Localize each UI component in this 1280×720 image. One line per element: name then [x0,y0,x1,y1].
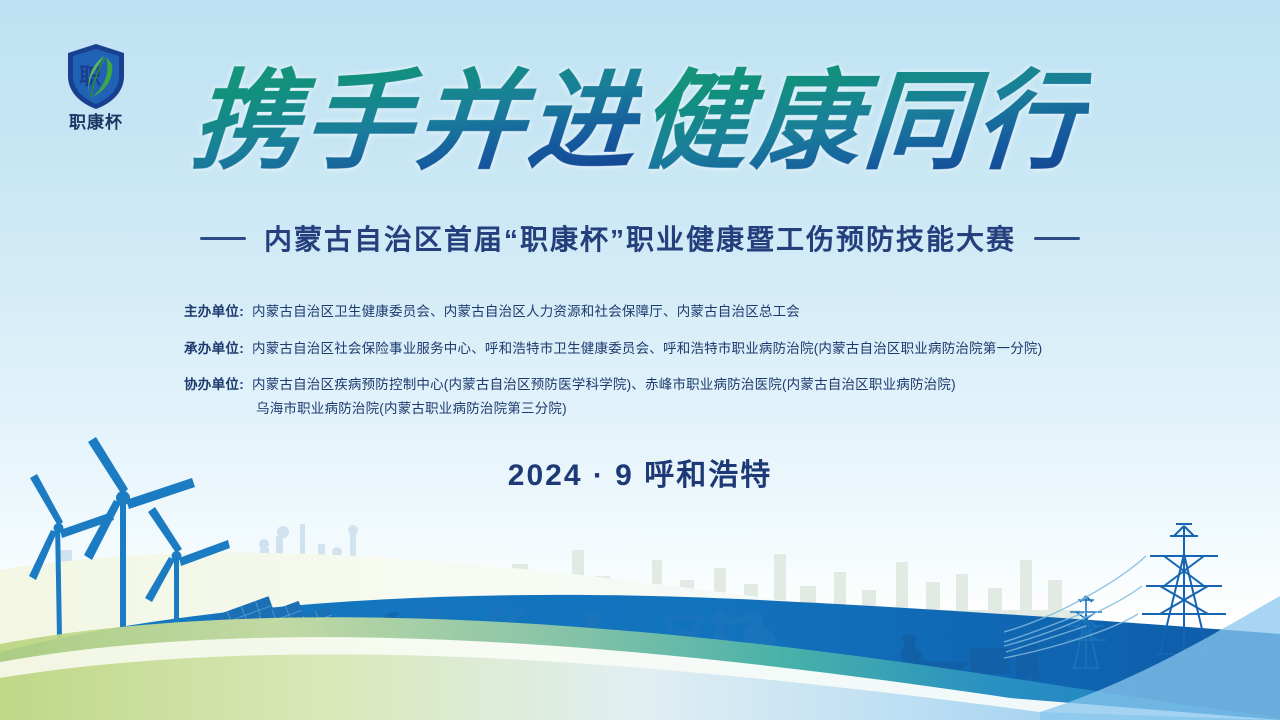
subtitle-row: 内蒙古自治区首届“职康杯”职业健康暨工伤预防技能大赛 [0,218,1280,258]
organizer-label: 承办单位: [184,337,244,357]
title-right: 健康同行 [636,62,1092,183]
dash-left-icon [200,237,246,240]
organizer-label: 主办单位: [184,300,244,320]
organizer-label: 协办单位: [184,373,244,393]
organizer-row: 协办单位: 内蒙古自治区疾病预防控制中心(内蒙古自治区预防医学科学院)、赤峰市职… [184,373,1164,420]
organizer-block: 主办单位: 内蒙古自治区卫生健康委员会、内蒙古自治区人力资源和社会保障厅、内蒙古… [184,300,1164,434]
organizer-row: 承办单位: 内蒙古自治区社会保险事业服务中心、呼和浩特市卫生健康委员会、呼和浩特… [184,337,1164,361]
poster-canvas: 职 职康杯 携手并进健康同行 内蒙古自治区首届“职康杯”职业健康暨工伤预防技能大… [0,0,1280,720]
organizer-value: 内蒙古自治区社会保险事业服务中心、呼和浩特市卫生健康委员会、呼和浩特市职业病防治… [252,337,1042,361]
organizer-row: 主办单位: 内蒙古自治区卫生健康委员会、内蒙古自治区人力资源和社会保障厅、内蒙古… [184,300,1164,324]
title-left: 携手并进 [188,62,644,183]
organizer-value-line2: 乌海市职业病防治院(内蒙古职业病防治院第三分院) [256,397,956,421]
organizer-value: 内蒙古自治区疾病预防控制中心(内蒙古自治区预防医学科学院)、赤峰市职业病防治医院… [252,373,956,420]
date-location: 2024 · 9 呼和浩特 [0,450,1280,494]
dash-right-icon [1034,237,1080,240]
organizer-value: 内蒙古自治区卫生健康委员会、内蒙古自治区人力资源和社会保障厅、内蒙古自治区总工会 [252,300,800,324]
main-title: 携手并进健康同行 [0,62,1280,183]
organizer-value-line1: 内蒙古自治区疾病预防控制中心(内蒙古自治区预防医学科学院)、赤峰市职业病防治医院… [252,377,956,392]
subtitle-text: 内蒙古自治区首届“职康杯”职业健康暨工伤预防技能大赛 [264,218,1016,258]
